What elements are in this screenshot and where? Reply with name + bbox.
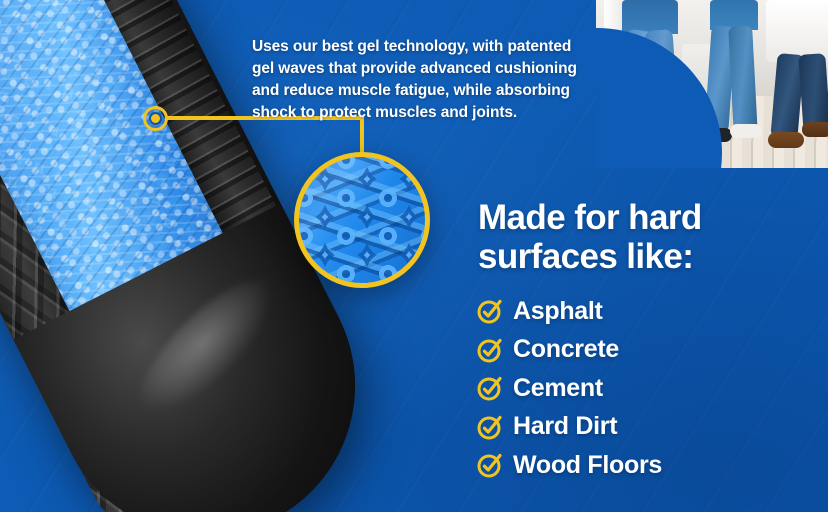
- photo-shoe: [768, 132, 804, 148]
- list-item: Concrete: [476, 331, 816, 370]
- circle-check-icon: [476, 297, 504, 325]
- photo-shoe: [730, 124, 762, 138]
- photo-shoe: [802, 122, 828, 137]
- circle-check-icon: [476, 336, 504, 364]
- list-item-label: Cement: [513, 374, 603, 403]
- list-item-label: Asphalt: [513, 297, 603, 326]
- target-marker-icon: [143, 106, 168, 131]
- surface-feature-list: Asphalt Concrete Cement: [476, 292, 816, 485]
- medical-workers-walking-photo: [596, 0, 828, 168]
- list-item: Hard Dirt: [476, 408, 816, 447]
- list-item-label: Hard Dirt: [513, 412, 617, 441]
- photo-corner-mask-fill: [596, 150, 716, 168]
- list-item: Asphalt: [476, 292, 816, 331]
- list-item-label: Wood Floors: [513, 451, 662, 480]
- headline-line-1: Made for hard: [478, 198, 702, 237]
- list-item: Wood Floors: [476, 446, 816, 485]
- headline-line-2: surfaces like:: [478, 237, 693, 276]
- list-item-label: Concrete: [513, 335, 619, 364]
- circle-check-icon: [476, 413, 504, 441]
- circle-check-icon: [476, 374, 504, 402]
- circle-check-icon: [476, 451, 504, 479]
- page-title: Made for hard surfaces like:: [478, 198, 808, 276]
- infographic-canvas: Uses our best gel technology, with paten…: [0, 0, 828, 512]
- product-description: Uses our best gel technology, with paten…: [252, 36, 582, 124]
- photo-scrub-top: [622, 0, 678, 34]
- magnified-gel-wave-circle: [294, 152, 430, 288]
- magnified-sheen: [299, 157, 425, 283]
- list-item: Cement: [476, 369, 816, 408]
